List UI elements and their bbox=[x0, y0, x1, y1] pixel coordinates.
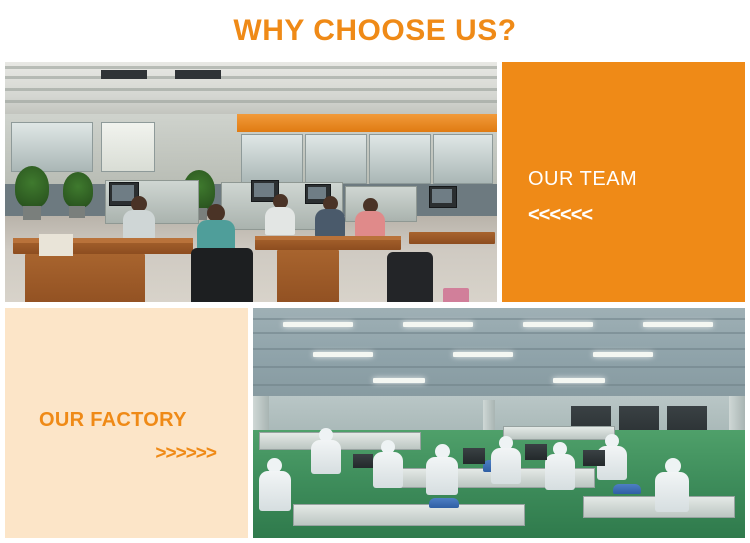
bottom-row: OUR FACTORY >>>>>> bbox=[5, 308, 745, 538]
page-title: WHY CHOOSE US? bbox=[233, 16, 516, 46]
office-photo-illustration bbox=[5, 62, 497, 302]
our-factory-panel: OUR FACTORY >>>>>> bbox=[5, 308, 248, 538]
factory-photo-illustration bbox=[253, 308, 745, 538]
office-photo bbox=[5, 62, 497, 302]
right-arrows-icon: >>>>>> bbox=[155, 443, 216, 465]
why-choose-us-banner: WHY CHOOSE US? bbox=[0, 0, 750, 543]
our-factory-label: OUR FACTORY bbox=[39, 409, 187, 432]
top-row: OUR TEAM <<<<<< bbox=[5, 62, 745, 302]
page-title-bar: WHY CHOOSE US? bbox=[0, 0, 750, 62]
factory-photo bbox=[253, 308, 745, 538]
our-team-label: OUR TEAM bbox=[528, 168, 637, 191]
our-team-panel: OUR TEAM <<<<<< bbox=[502, 62, 745, 302]
left-arrows-icon: <<<<<< bbox=[528, 204, 592, 227]
